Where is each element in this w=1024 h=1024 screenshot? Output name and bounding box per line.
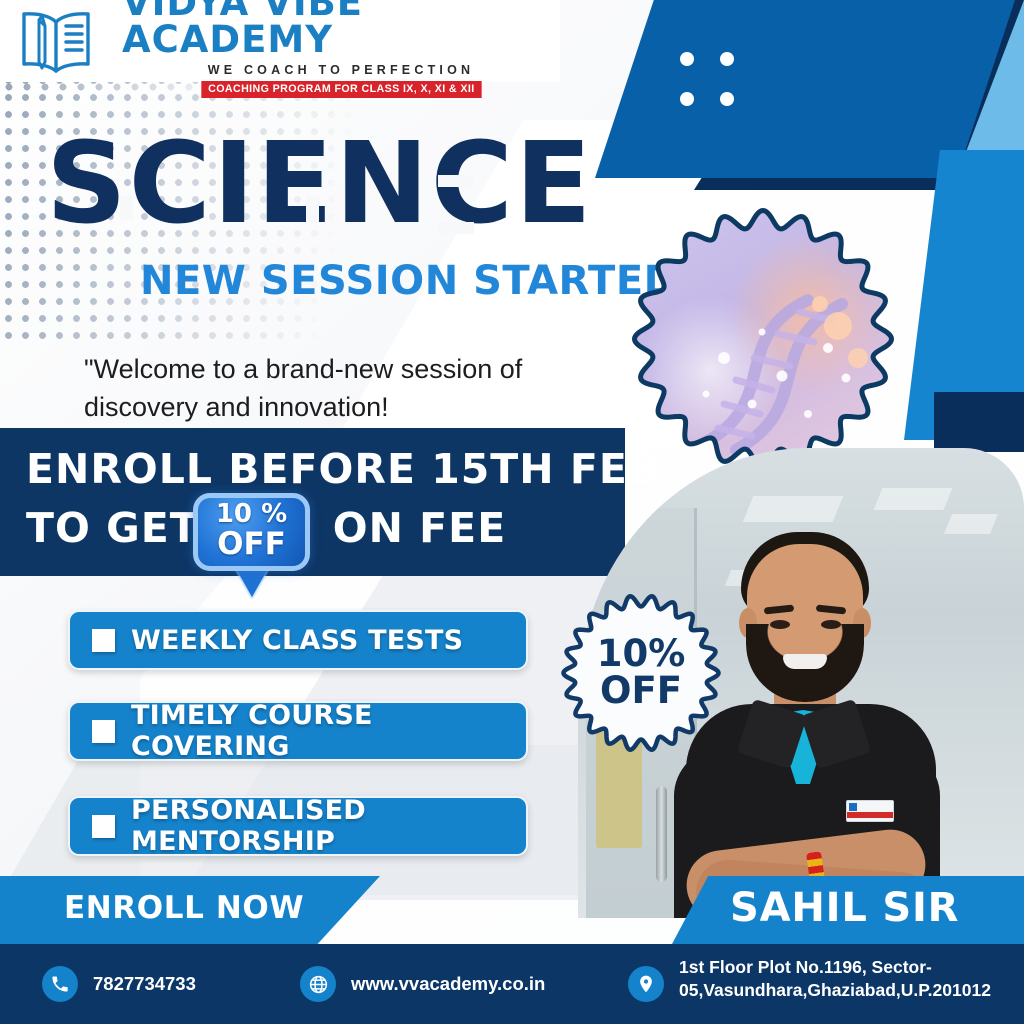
title-stencil-notch: [438, 222, 474, 234]
enroll-now-band[interactable]: ENROLL NOW: [0, 876, 380, 944]
contact-website[interactable]: www.vvacademy.co.in: [300, 966, 545, 1002]
bubble-percent: 10 %: [193, 499, 310, 529]
phone-number: 7827734733: [93, 973, 196, 995]
offer-subline-suffix: ON FEE: [333, 504, 506, 552]
brand-header: VIDYA VIBE ACADEMY WE COACH TO PERFECTIO…: [0, 0, 560, 82]
discount-seal-badge: 10% OFF: [560, 592, 722, 754]
offer-headline: ENROLL BEFORE 15TH FEB: [26, 445, 660, 493]
bubble-off-label: OFF: [193, 526, 310, 562]
page-subtitle: NEW SESSION STARTED: [140, 258, 677, 304]
phone-icon: [42, 966, 78, 1002]
title-stencil-notch: [306, 196, 319, 222]
welcome-quote-line-1: "Welcome to a brand-new session of: [84, 350, 604, 388]
dna-helix-image: [632, 208, 894, 470]
discount-bubble-badge: 10 % OFF: [193, 493, 310, 571]
seal-percent: 10%: [597, 635, 686, 672]
teacher-name-band: SAHIL SIR: [672, 876, 1024, 944]
right-edge-band-navy: [934, 392, 1024, 452]
feature-pill-weekly-class-tests[interactable]: WEEKLY CLASS TESTS: [68, 610, 528, 670]
bullet-square-icon: [92, 720, 115, 743]
feature-label: TIMELY COURSE COVERING: [131, 700, 526, 762]
title-stencil-notch: [120, 196, 133, 220]
bullet-square-icon: [92, 815, 115, 838]
brand-name: VIDYA VIBE ACADEMY: [122, 0, 560, 58]
welcome-quote: "Welcome to a brand-new session of disco…: [84, 350, 604, 427]
location-pin-icon: [628, 966, 664, 1002]
address-text: 1st Floor Plot No.1196, Sector-05,Vasund…: [679, 956, 1024, 1003]
bubble-tail: [235, 567, 269, 597]
website-url: www.vvacademy.co.in: [351, 973, 545, 995]
poster-canvas: VIDYA VIBE ACADEMY WE COACH TO PERFECTIO…: [0, 0, 1024, 1024]
shirt-logo-tag: [846, 800, 894, 822]
brand-tagline: WE COACH TO PERFECTION: [208, 63, 474, 77]
seal-off-label: OFF: [600, 672, 682, 711]
contact-footer: 7827734733 www.vvacademy.co.in 1st Floor…: [0, 944, 1024, 1024]
globe-icon: [300, 966, 336, 1002]
brand-lockup: VIDYA VIBE ACADEMY WE COACH TO PERFECTIO…: [122, 0, 560, 98]
open-book-pencil-icon: [12, 6, 100, 76]
enroll-now-label: ENROLL NOW: [64, 890, 304, 926]
offer-subline-prefix: TO GET: [26, 504, 199, 552]
decorative-dot-grid: [680, 52, 738, 110]
bullet-square-icon: [92, 629, 115, 652]
welcome-quote-line-2: discovery and innovation!: [84, 388, 604, 426]
title-stencil-notch: [438, 175, 474, 187]
seal-text: 10% OFF: [560, 592, 722, 754]
feature-pill-timely-course-covering[interactable]: TIMELY COURSE COVERING: [68, 701, 528, 761]
feature-label: WEEKLY CLASS TESTS: [131, 625, 463, 656]
page-title: SCIENCE: [46, 128, 593, 240]
teacher-name-label: SAHIL SIR: [730, 885, 959, 931]
feature-label: PERSONALISED MENTORSHIP: [131, 795, 526, 857]
contact-phone[interactable]: 7827734733: [42, 966, 196, 1002]
feature-pill-personalised-mentorship[interactable]: PERSONALISED MENTORSHIP: [68, 796, 528, 856]
contact-address: 1st Floor Plot No.1196, Sector-05,Vasund…: [628, 956, 1024, 1003]
brand-classes-strip: COACHING PROGRAM FOR CLASS IX, X, XI & X…: [201, 81, 481, 98]
